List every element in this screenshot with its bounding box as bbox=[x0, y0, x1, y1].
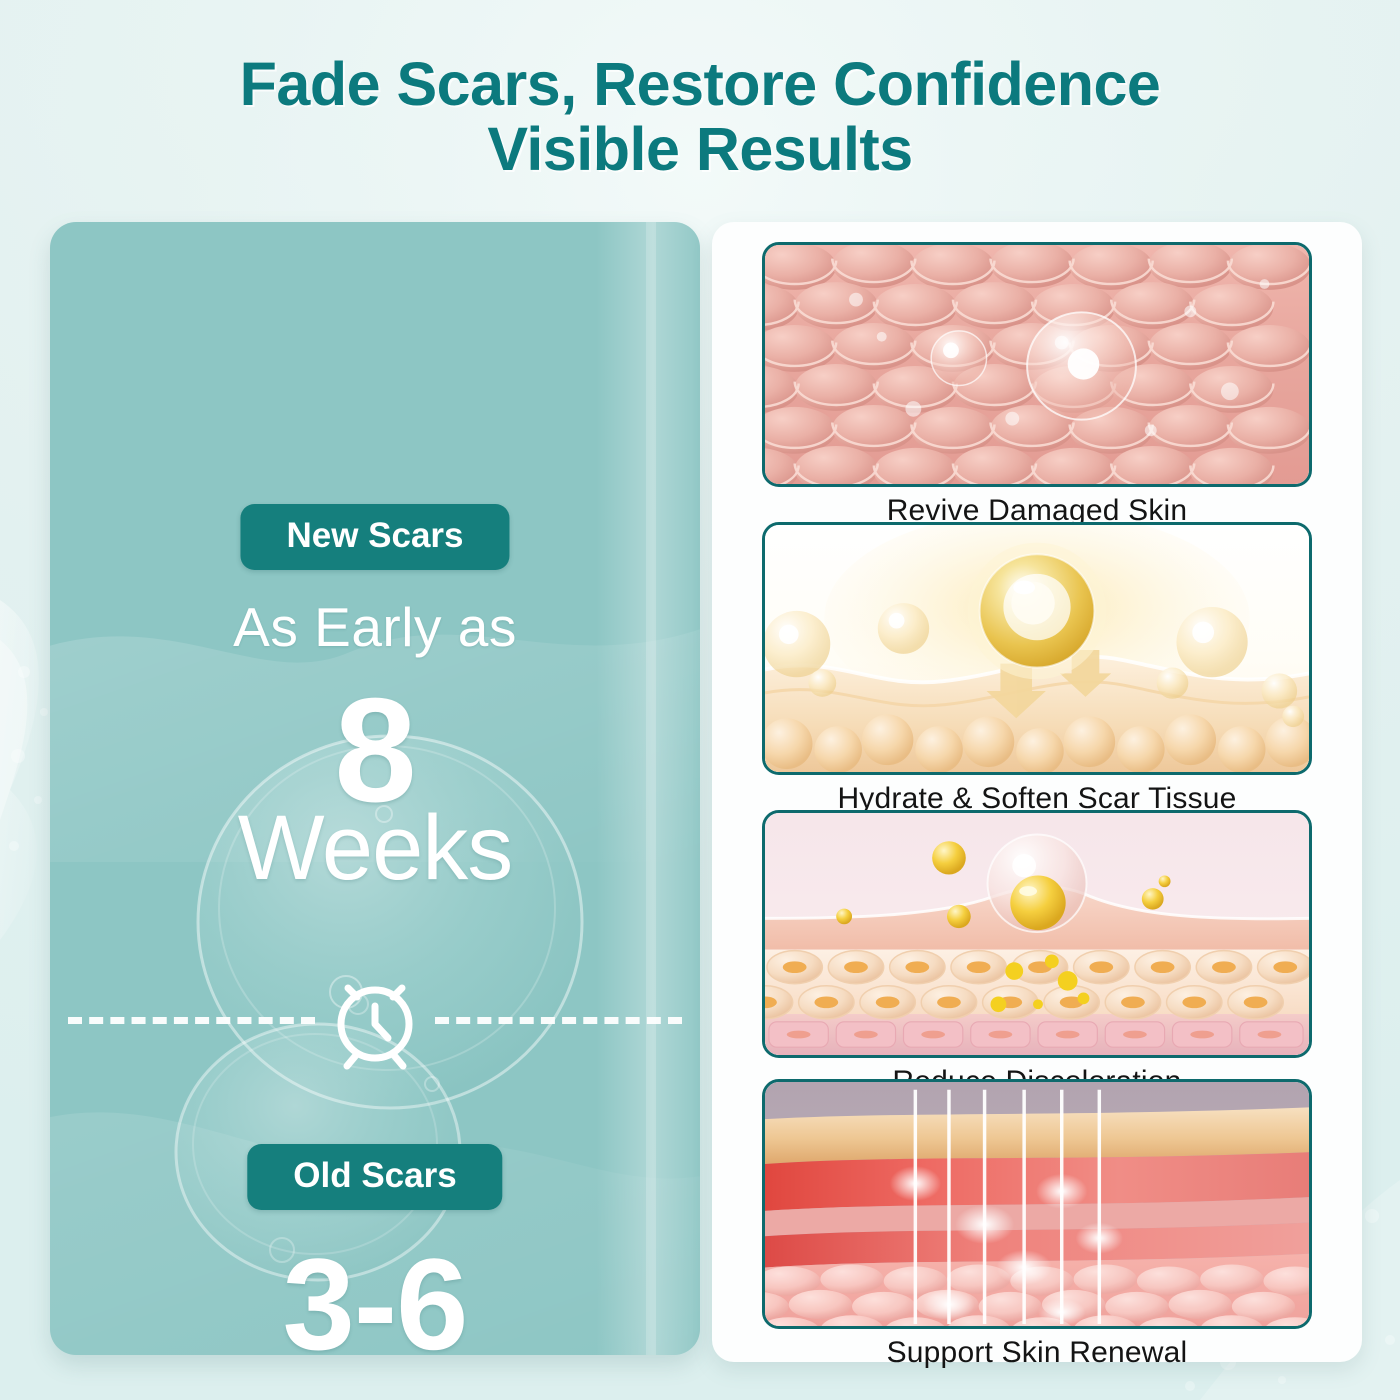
alarm-clock-icon bbox=[326, 966, 424, 1074]
skin-cells-with-serum-bubbles-image bbox=[762, 242, 1312, 487]
old-scars-number: 3-6 bbox=[50, 1239, 700, 1355]
benefit-card: Support Skin Renewal bbox=[712, 1079, 1362, 1370]
page-title: Fade Scars, Restore Confidence Visible R… bbox=[0, 52, 1400, 183]
timeline-panel: New Scars As Early as 8 Weeks bbox=[50, 222, 700, 1355]
badge-new-scars: New Scars bbox=[240, 504, 509, 570]
benefit-card: Hydrate & Soften Scar Tissue bbox=[712, 522, 1362, 816]
timeline-divider bbox=[50, 970, 700, 1070]
new-scars-lead-text: As Early as bbox=[50, 595, 700, 659]
benefits-panel: Revive Damaged Skin bbox=[712, 222, 1362, 1362]
badge-old-scars: Old Scars bbox=[247, 1144, 502, 1210]
benefit-caption: Support Skin Renewal bbox=[712, 1336, 1362, 1370]
skin-layers-with-light-beams-image bbox=[762, 1079, 1312, 1329]
new-scars-unit: Weeks bbox=[50, 802, 700, 894]
oil-droplet-absorbing-into-skin-image bbox=[762, 522, 1312, 775]
divider-dash-left bbox=[68, 1017, 315, 1024]
divider-dash-right bbox=[435, 1017, 682, 1024]
skin-cross-section-with-gold-droplets-image bbox=[762, 810, 1312, 1058]
benefit-card: Revive Damaged Skin bbox=[712, 242, 1362, 528]
benefit-card: Reduce Discoloration bbox=[712, 810, 1362, 1099]
